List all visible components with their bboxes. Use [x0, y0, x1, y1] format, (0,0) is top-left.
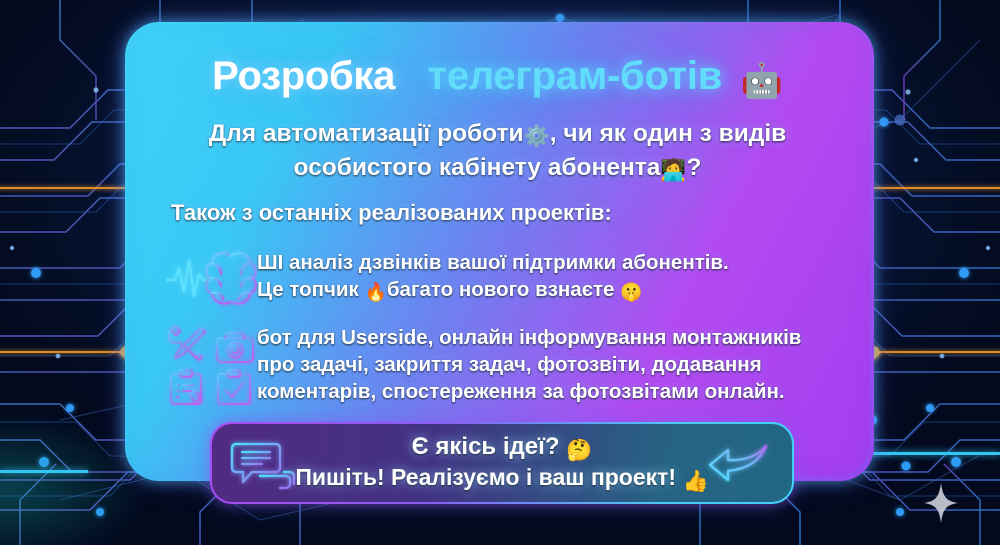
- bullet1-line2a: Це топчик: [257, 278, 359, 301]
- fire-emoji: 🔥: [364, 282, 386, 303]
- list-item-text: ШІ аналіз дзвінків вашої підтримки абоне…: [257, 240, 729, 306]
- list-item: бот для Userside, онлайн інформування мо…: [165, 320, 801, 406]
- subtitle-line1-tail: , чи як один з видів: [550, 120, 786, 147]
- bullet1-line1: ШІ аналіз дзвінків вашої підтримки абоне…: [257, 251, 729, 274]
- banner-content: Розробка телеграм-ботів 🤖 Для автоматиза…: [125, 22, 870, 477]
- subtitle: Для автоматизації роботи⚙️, чи як один з…: [147, 118, 848, 186]
- telegram-bots-promo-banner: Розробка телеграм-ботів 🤖 Для автоматиза…: [0, 0, 1000, 545]
- projects-lead-text: Також з останніх реалізованих проектів:: [171, 200, 612, 226]
- bullet2-line3: коментарів, спостереження за фотозвітами…: [257, 380, 785, 403]
- list-item: ШІ аналіз дзвінків вашої підтримки абоне…: [165, 240, 729, 316]
- brain-pulse-icon: [165, 240, 257, 316]
- bullet2-line2: про задачі, закриття задач, фотозвіти, д…: [257, 353, 762, 376]
- subtitle-line1-text: Для автоматизації роботи: [209, 120, 524, 147]
- list-item-text: бот для Userside, онлайн інформування мо…: [257, 320, 801, 405]
- curved-left-arrow-icon: [704, 434, 780, 492]
- cta-line2-text: Пишіть! Реалізуємо і ваш проект!: [295, 464, 676, 490]
- thinking-face-emoji: 🤔: [566, 438, 592, 462]
- cta-left-connector: [0, 470, 88, 473]
- title-word-white: Розробка: [212, 54, 395, 98]
- gear-emoji: ⚙️: [524, 124, 550, 148]
- subtitle-line2-text: особистого кабінету абонента: [293, 154, 660, 181]
- cta-box[interactable]: Є якісь ідеї? 🤔 Пишіть! Реалізуємо і ваш…: [210, 422, 794, 504]
- sparkle-icon: [924, 483, 958, 523]
- robot-emoji: 🤖: [741, 61, 783, 101]
- tools-camera-clipboards-icon: [165, 320, 257, 406]
- page-title: Розробка телеграм-ботів 🤖: [125, 54, 870, 101]
- bullet1-line2b: багато нового взнаєте: [387, 278, 615, 301]
- technologist-emoji: 🧑‍💻: [660, 158, 686, 182]
- cta-line1-text: Є якісь ідеї?: [412, 433, 560, 460]
- bullet2-line1: бот для Userside, онлайн інформування мо…: [257, 326, 801, 349]
- title-word-cyan: телеграм-ботів: [428, 54, 722, 98]
- subtitle-line2-tail: ?: [687, 154, 702, 181]
- shushing-face-emoji: 🤫: [620, 282, 642, 303]
